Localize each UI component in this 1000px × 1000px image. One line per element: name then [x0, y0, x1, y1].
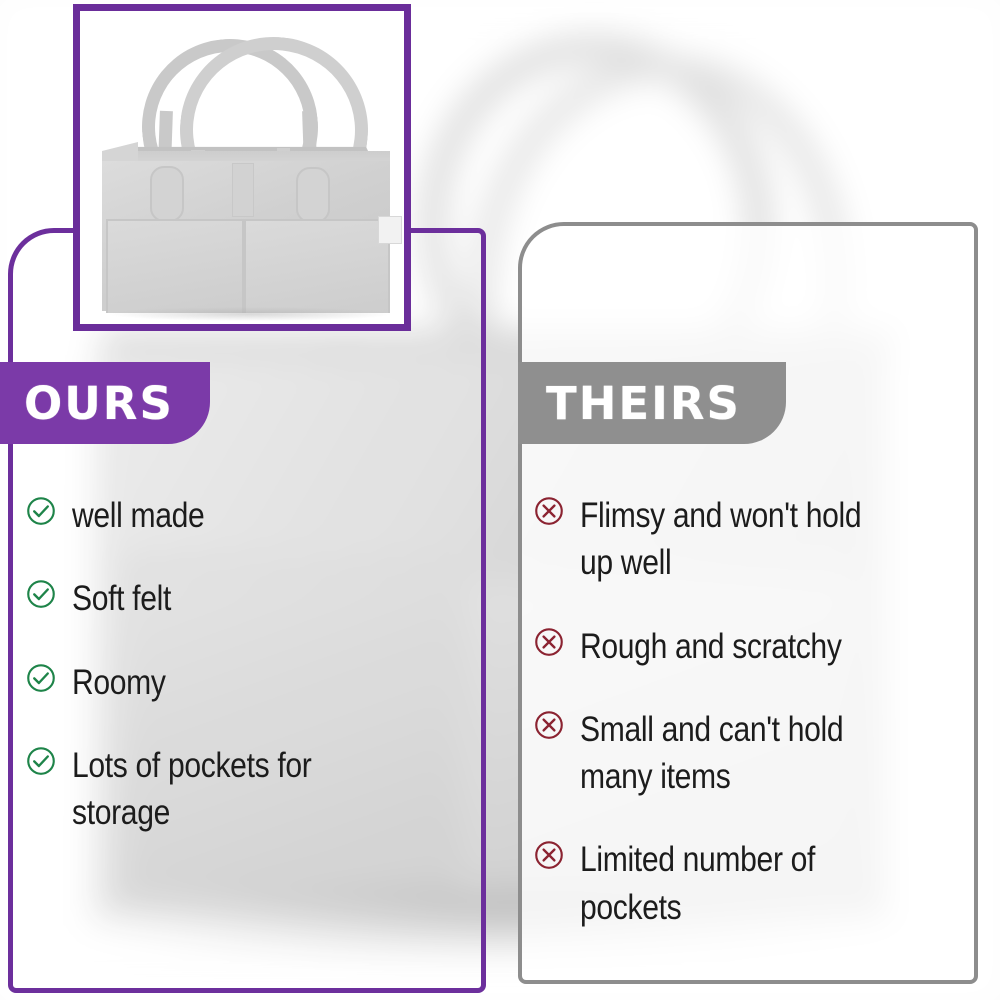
bag-center-strap [232, 163, 254, 217]
x-circle-icon [534, 710, 564, 740]
list-item: Soft felt [26, 575, 456, 622]
list-item-label: Small and can't hold many items [580, 706, 902, 801]
list-item-label: Lots of pockets for storage [72, 742, 402, 837]
bag-front-pocket-left [106, 219, 244, 313]
product-photo-inset [73, 4, 411, 331]
list-item-label: Roomy [72, 659, 402, 706]
list-item: Limited number of pockets [534, 836, 954, 931]
theirs-feature-list: Flimsy and won't hold up well Rough and … [534, 492, 954, 931]
ours-banner-label: OURS [24, 381, 174, 426]
list-item-label: Limited number of pockets [580, 836, 902, 931]
check-circle-icon [26, 579, 56, 609]
bag-loop-tab-right [296, 167, 330, 223]
check-circle-icon [26, 746, 56, 776]
list-item-label: well made [72, 492, 402, 539]
ours-feature-list: well made Soft felt Roomy Lots of pocket… [26, 492, 456, 836]
list-item: Small and can't hold many items [534, 706, 954, 801]
product-photo [80, 11, 404, 324]
list-item: Rough and scratchy [534, 623, 954, 670]
comparison-infographic: OURS THEIRS well made Soft felt Roomy [0, 0, 1000, 1000]
check-circle-icon [26, 663, 56, 693]
check-circle-icon [26, 496, 56, 526]
bag-shadow [110, 307, 390, 321]
bag-loop-tab-left [150, 166, 184, 222]
theirs-banner-label: THEIRS [546, 381, 741, 426]
list-item-label: Soft felt [72, 575, 402, 622]
bag-front-pocket-right [244, 219, 390, 313]
x-circle-icon [534, 496, 564, 526]
list-item: Flimsy and won't hold up well [534, 492, 954, 587]
theirs-banner: THEIRS [518, 362, 786, 444]
list-item-label: Rough and scratchy [580, 623, 902, 670]
list-item-label: Flimsy and won't hold up well [580, 492, 902, 587]
x-circle-icon [534, 627, 564, 657]
list-item: Roomy [26, 659, 456, 706]
list-item: Lots of pockets for storage [26, 742, 456, 837]
x-circle-icon [534, 840, 564, 870]
list-item: well made [26, 492, 456, 539]
bag-brand-tag [378, 216, 402, 244]
ours-banner: OURS [0, 362, 210, 444]
